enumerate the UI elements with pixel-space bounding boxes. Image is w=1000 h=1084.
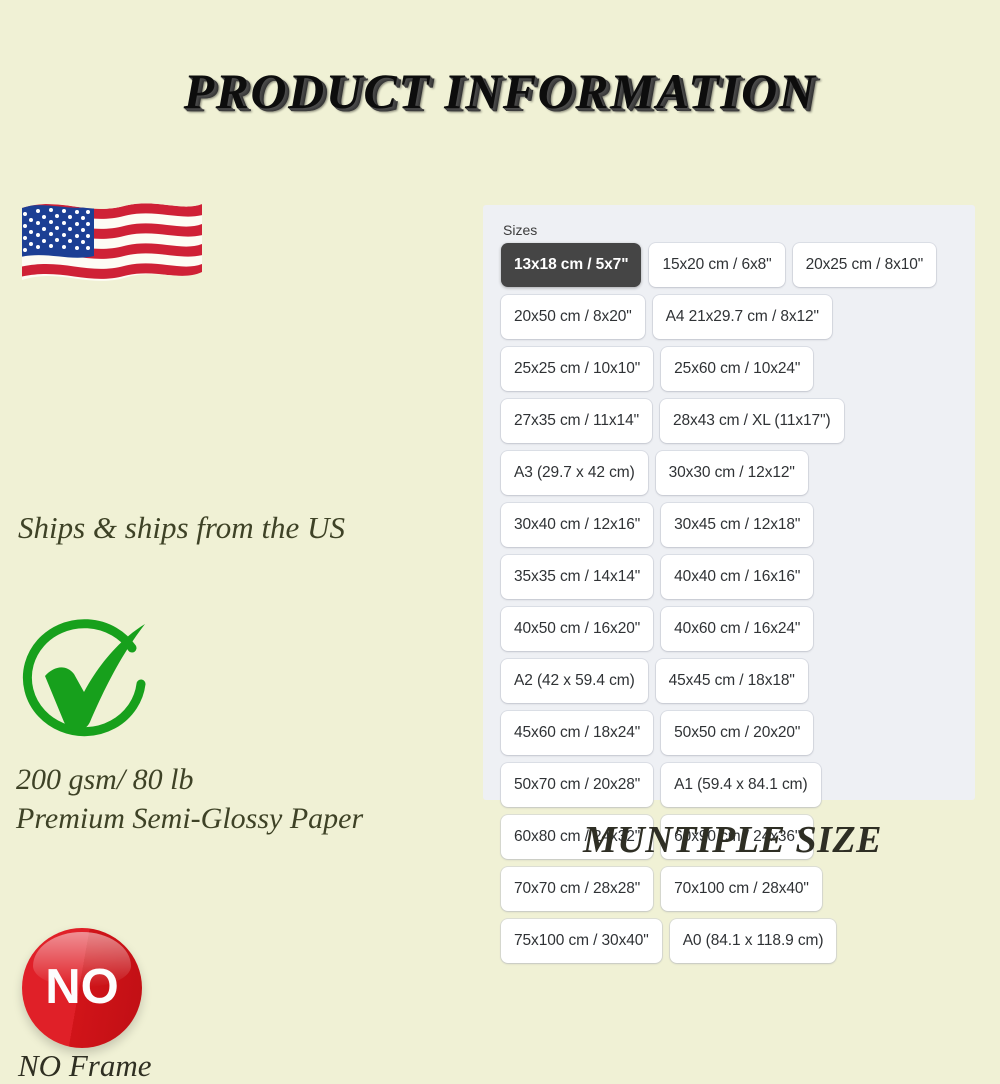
- size-option-chip[interactable]: 45x45 cm / 18x18": [656, 659, 808, 703]
- size-option-chip[interactable]: 30x30 cm / 12x12": [656, 451, 808, 495]
- size-option-chip[interactable]: 70x100 cm / 28x40": [661, 867, 822, 911]
- size-option-chip[interactable]: 50x70 cm / 20x28": [501, 763, 653, 807]
- no-frame-text: NO Frame: [18, 1048, 151, 1084]
- size-option-chip[interactable]: 30x40 cm / 12x16": [501, 503, 653, 547]
- sizes-label: Sizes: [503, 222, 537, 238]
- paper-type-line: Premium Semi-Glossy Paper: [16, 799, 363, 838]
- size-option-chip[interactable]: A0 (84.1 x 118.9 cm): [670, 919, 837, 963]
- multiple-size-caption: MUNTIPLE SIZE: [583, 818, 882, 862]
- size-option-chip[interactable]: 75x100 cm / 30x40": [501, 919, 662, 963]
- size-option-chip[interactable]: 35x35 cm / 14x14": [501, 555, 653, 599]
- size-option-chip[interactable]: 45x60 cm / 18x24": [501, 711, 653, 755]
- size-option-chip[interactable]: A3 (29.7 x 42 cm): [501, 451, 648, 495]
- us-flag-icon: [16, 194, 206, 302]
- no-badge-icon: NO: [22, 928, 142, 1048]
- size-option-chip[interactable]: 40x40 cm / 16x16": [661, 555, 813, 599]
- size-option-chip[interactable]: 40x50 cm / 16x20": [501, 607, 653, 651]
- size-option-chip[interactable]: 50x50 cm / 20x20": [661, 711, 813, 755]
- size-option-chip[interactable]: 28x43 cm / XL (11x17"): [660, 399, 844, 443]
- size-option-chip[interactable]: 30x45 cm / 12x18": [661, 503, 813, 547]
- size-selector-panel: Sizes 13x18 cm / 5x7"15x20 cm / 6x8"20x2…: [483, 205, 975, 800]
- size-option-chip[interactable]: 20x50 cm / 8x20": [501, 295, 645, 339]
- size-option-chip[interactable]: A2 (42 x 59.4 cm): [501, 659, 648, 703]
- paper-weight-line: 200 gsm/ 80 lb: [16, 760, 363, 799]
- size-option-chip[interactable]: A4 21x29.7 cm / 8x12": [653, 295, 832, 339]
- page-title: PRODUCT INFORMATION: [0, 62, 1000, 120]
- paper-spec-text: 200 gsm/ 80 lb Premium Semi-Glossy Paper: [16, 760, 363, 838]
- size-option-chip[interactable]: 25x25 cm / 10x10": [501, 347, 653, 391]
- size-option-chip[interactable]: 15x20 cm / 6x8": [649, 243, 784, 287]
- size-option-chip[interactable]: A1 (59.4 x 84.1 cm): [661, 763, 820, 807]
- size-option-chip[interactable]: 27x35 cm / 11x14": [501, 399, 652, 443]
- size-option-chip[interactable]: 40x60 cm / 16x24": [661, 607, 813, 651]
- size-option-chip[interactable]: 20x25 cm / 8x10": [793, 243, 937, 287]
- size-option-chip[interactable]: 70x70 cm / 28x28": [501, 867, 653, 911]
- green-check-icon: [14, 612, 164, 752]
- shipping-text: Ships & ships from the US: [18, 510, 345, 546]
- size-option-chip[interactable]: 13x18 cm / 5x7": [501, 243, 641, 287]
- size-option-chip[interactable]: 25x60 cm / 10x24": [661, 347, 813, 391]
- no-badge-label: NO: [22, 959, 142, 1015]
